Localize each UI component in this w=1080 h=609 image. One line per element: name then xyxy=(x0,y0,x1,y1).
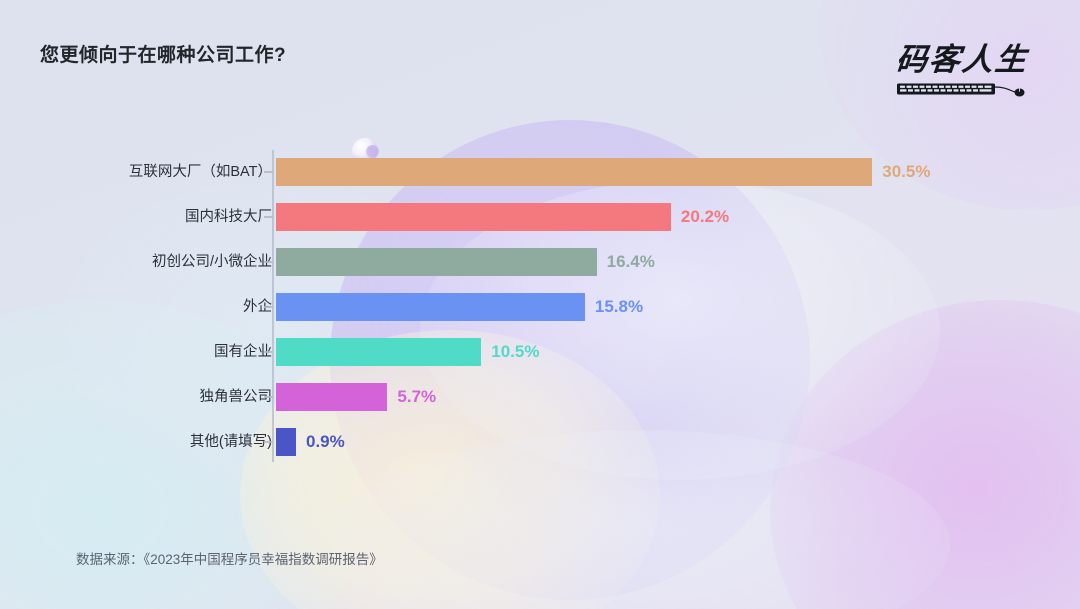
bar-category-label: 初创公司/小微企业 xyxy=(52,248,272,276)
bar-category-label: 国内科技大厂 xyxy=(52,203,272,231)
bar-value-label: 0.9% xyxy=(306,428,345,456)
bar-value-label: 5.7% xyxy=(397,383,436,411)
bar xyxy=(276,383,387,411)
slide-canvas: 您更倾向于在哪种公司工作? 码客人生 xyxy=(0,0,1080,609)
bar-row: 国有企业10.5% xyxy=(0,338,1080,366)
bar-row: 其他(请填写)0.9% xyxy=(0,428,1080,456)
bar xyxy=(276,203,671,231)
axis-tick xyxy=(264,351,273,353)
bar-row: 初创公司/小微企业16.4% xyxy=(0,248,1080,276)
bar-value-label: 10.5% xyxy=(491,338,539,366)
axis-tick xyxy=(264,441,273,443)
bar-value-label: 30.5% xyxy=(882,158,930,186)
bar-chart: 互联网大厂（如BAT）30.5%国内科技大厂20.2%初创公司/小微企业16.4… xyxy=(0,0,1080,609)
axis-tick xyxy=(264,171,273,173)
bar-row: 独角兽公司5.7% xyxy=(0,383,1080,411)
bar-value-label: 20.2% xyxy=(681,203,729,231)
bar-category-label: 其他(请填写) xyxy=(52,428,272,456)
bar xyxy=(276,293,585,321)
bar xyxy=(276,428,296,456)
axis-tick xyxy=(264,216,273,218)
bar-category-label: 国有企业 xyxy=(52,338,272,366)
bar-value-label: 16.4% xyxy=(607,248,655,276)
bar-row: 外企15.8% xyxy=(0,293,1080,321)
bar xyxy=(276,158,872,186)
bar xyxy=(276,338,481,366)
bar-category-label: 外企 xyxy=(52,293,272,321)
axis-tick xyxy=(264,306,273,308)
axis-tick xyxy=(264,396,273,398)
bar-category-label: 互联网大厂（如BAT） xyxy=(52,158,272,186)
bar-value-label: 15.8% xyxy=(595,293,643,321)
axis-tick xyxy=(264,261,273,263)
bar-category-label: 独角兽公司 xyxy=(52,383,272,411)
source-note: 数据来源：《2023年中国程序员幸福指数调研报告》 xyxy=(76,548,383,568)
bar xyxy=(276,248,597,276)
bar-row: 国内科技大厂20.2% xyxy=(0,203,1080,231)
bar-row: 互联网大厂（如BAT）30.5% xyxy=(0,158,1080,186)
